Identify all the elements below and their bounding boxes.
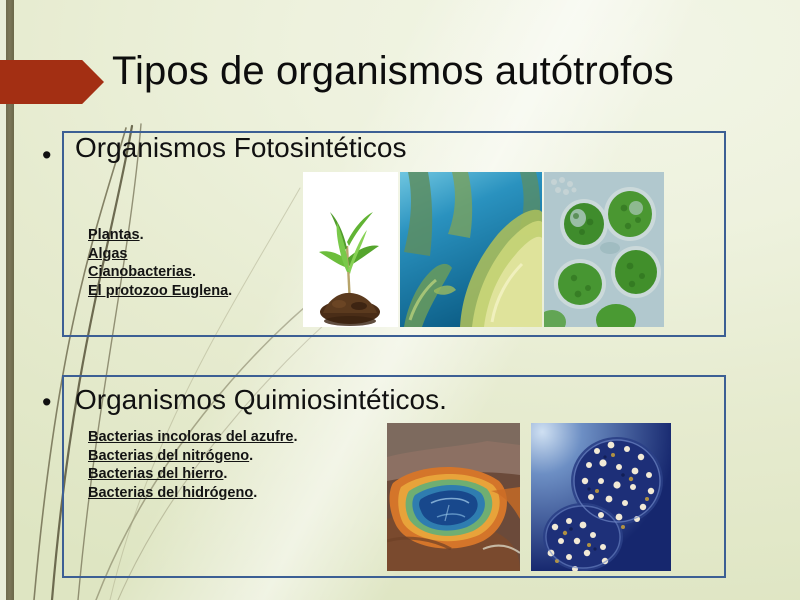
species-list-photosynthetic: Plantas. Algas Cianobacterias. El protoz… <box>88 226 232 300</box>
species-term: Bacterias del hidrógeno <box>88 485 253 501</box>
kelp-algae-photo <box>400 172 542 327</box>
species-tail: . <box>228 283 232 299</box>
list-item: Cianobacterias. <box>88 263 232 282</box>
species-tail: . <box>223 466 227 482</box>
list-item: Bacterias incoloras del azufre. <box>88 428 298 447</box>
slide-canvas: Tipos de organismos autótrofos • Organis… <box>0 0 800 600</box>
species-list-chemosynthetic: Bacterias incoloras del azufre. Bacteria… <box>88 428 298 502</box>
list-item: Bacterias del hierro. <box>88 465 298 484</box>
page-title: Tipos de organismos autótrofos <box>112 48 788 94</box>
plant-seedling-photo <box>303 172 398 327</box>
species-tail: . <box>140 227 144 243</box>
species-tail: . <box>249 448 253 464</box>
bullet-marker-chemosynthetic: • <box>42 389 51 416</box>
species-term: Cianobacterias <box>88 264 192 280</box>
hot-spring-photo <box>387 423 520 571</box>
list-item: Bacterias del hidrógeno. <box>88 484 298 503</box>
species-term: Bacterias incoloras del azufre <box>88 429 294 445</box>
sulfur-bacteria-micrograph <box>531 423 671 571</box>
list-item: Plantas. <box>88 226 232 245</box>
bullet-marker-photosynthetic: • <box>42 142 51 169</box>
section-heading-photosynthetic: Organismos Fotosintéticos <box>75 133 406 164</box>
species-tail: . <box>294 429 298 445</box>
title-arrow-banner <box>0 60 104 104</box>
species-term: El protozoo Euglena <box>88 283 228 299</box>
species-term: Bacterias del hierro <box>88 466 223 482</box>
species-term: Algas <box>88 246 128 262</box>
species-tail: . <box>192 264 196 280</box>
list-item: El protozoo Euglena. <box>88 282 232 301</box>
list-item: Bacterias del nitrógeno. <box>88 447 298 466</box>
cyanobacteria-micrograph <box>544 172 664 327</box>
species-tail: . <box>253 485 257 501</box>
section-heading-chemosynthetic: Organismos Quimiosintéticos. <box>75 385 447 416</box>
species-term: Bacterias del nitrógeno <box>88 448 249 464</box>
list-item: Algas <box>88 245 232 264</box>
species-term: Plantas <box>88 227 140 243</box>
